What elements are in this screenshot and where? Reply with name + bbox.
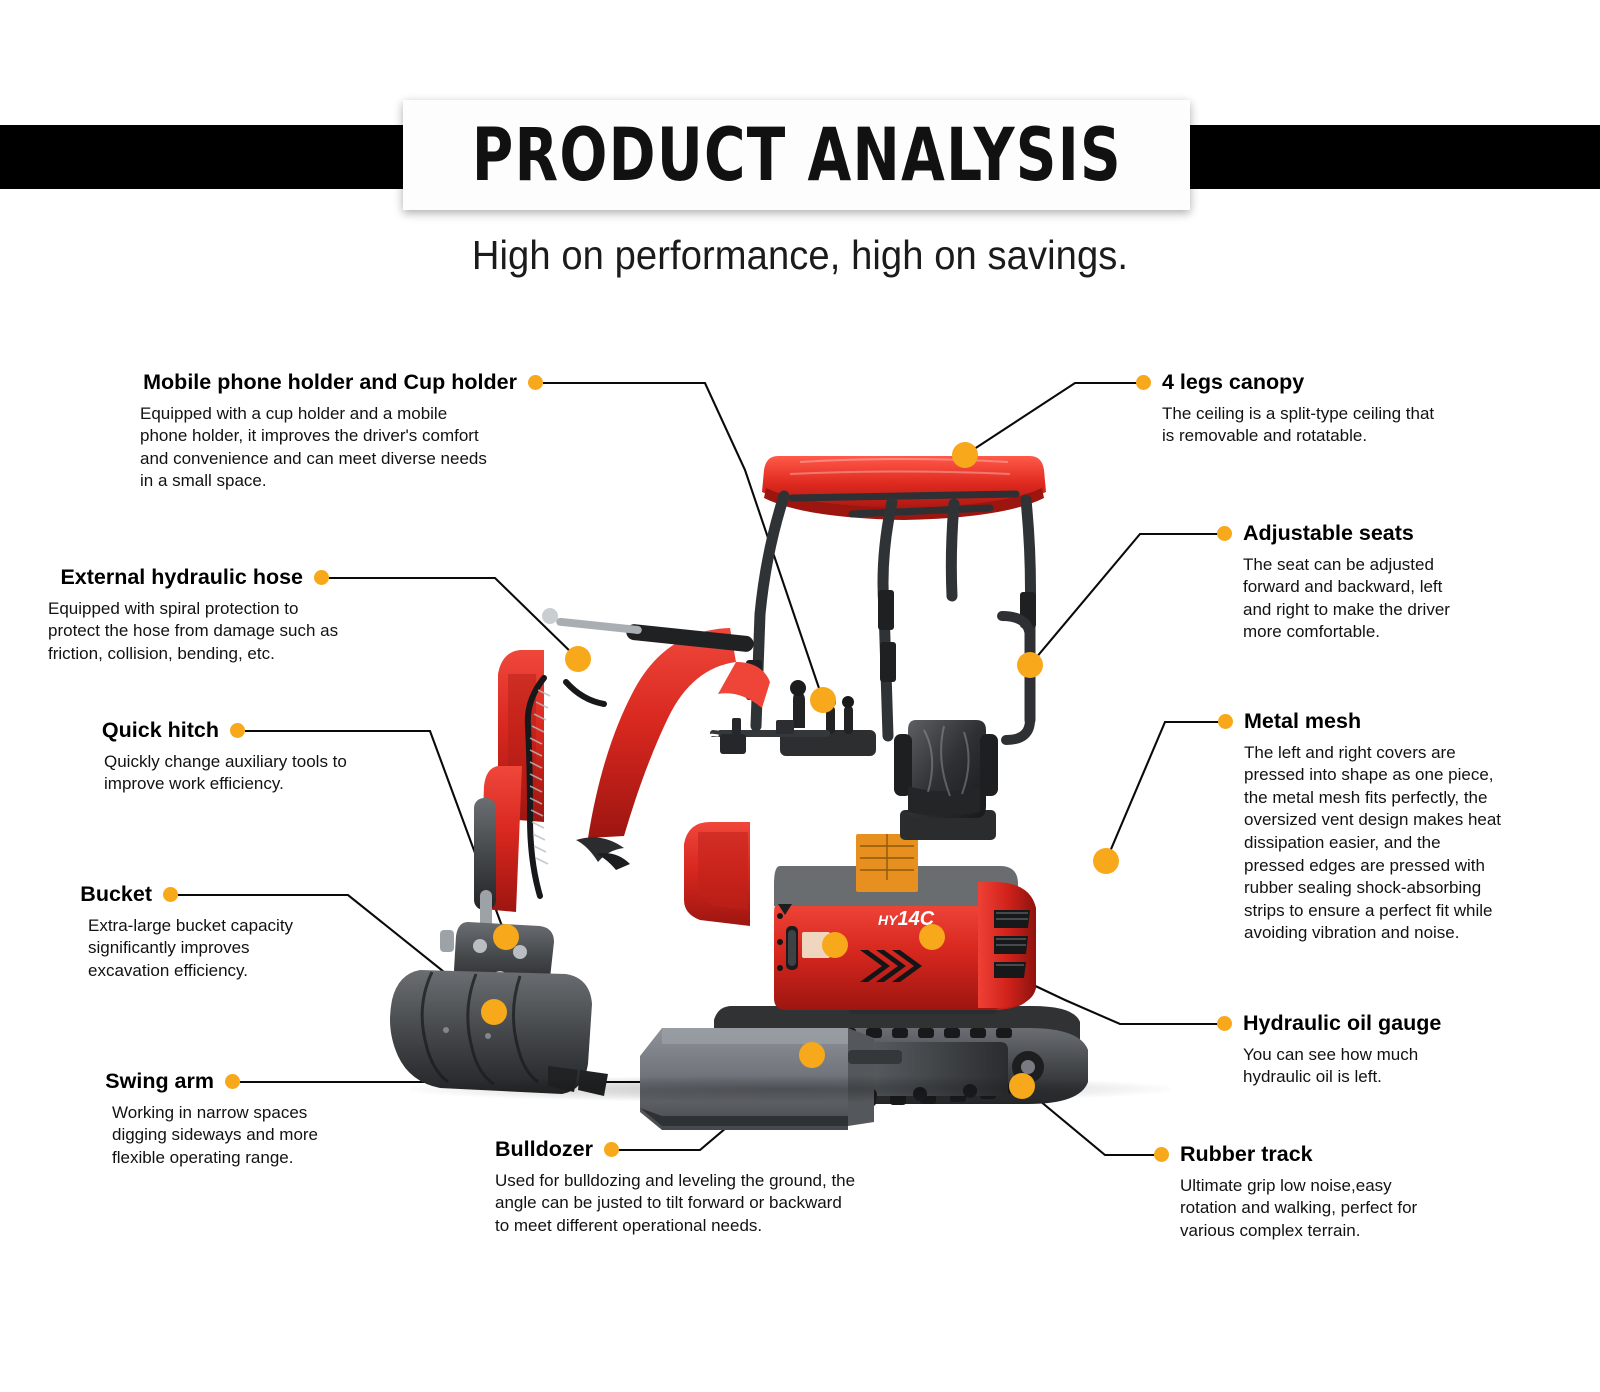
- hotspot-metal-mesh: [1093, 848, 1119, 874]
- hotspot-rubber-track: [1009, 1073, 1035, 1099]
- hotspot-external-hydraulic-hose: [565, 646, 591, 672]
- hotspot-4-legs-canopy: [952, 442, 978, 468]
- hotspot-quick-hitch: [493, 924, 519, 950]
- hotspot-dots: [0, 0, 1600, 1392]
- hotspot-swing-arm: [822, 932, 848, 958]
- hotspot-bucket: [481, 999, 507, 1025]
- hotspot-adjustable-seats: [1017, 652, 1043, 678]
- hotspot-bulldozer: [799, 1042, 825, 1068]
- infographic-canvas: PRODUCT ANALYSIS High on performance, hi…: [0, 0, 1600, 1392]
- hotspot-mobile-phone-holder: [810, 687, 836, 713]
- hotspot-hydraulic-oil-gauge: [919, 924, 945, 950]
